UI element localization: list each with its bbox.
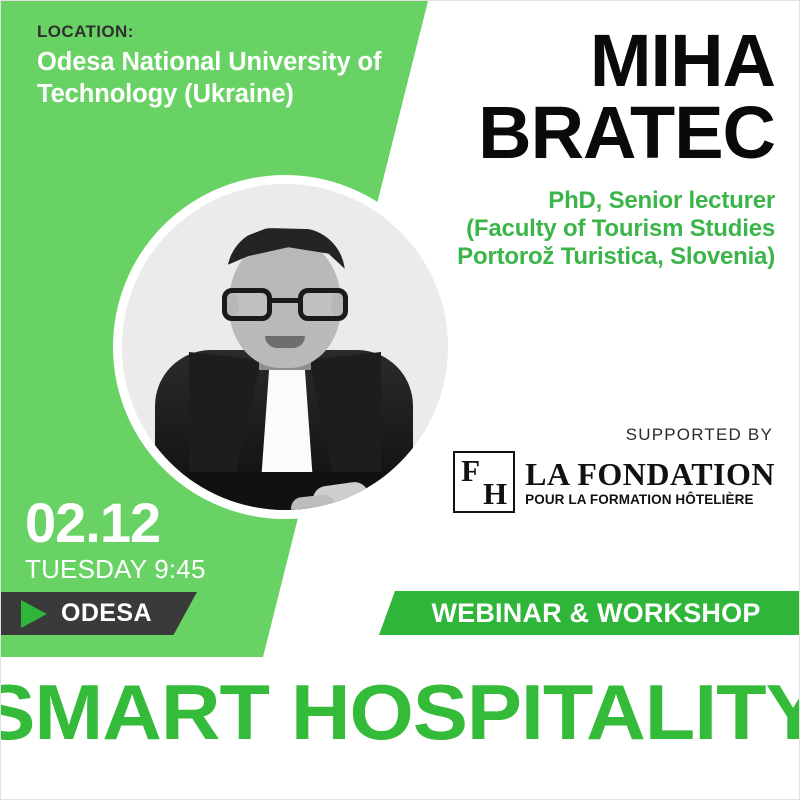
photo-lens-right bbox=[298, 288, 348, 321]
event-format-label: WEBINAR & WORKSHOP bbox=[431, 598, 760, 629]
location-block: LOCATION: Odesa National University of T… bbox=[37, 23, 387, 110]
event-date: 02.12 bbox=[25, 495, 206, 551]
foundation-tagline: POUR LA FORMATION HÔTELIÈRE bbox=[525, 493, 775, 507]
speaker-role-line-3: Portorož Turistica, Slovenia) bbox=[355, 243, 775, 271]
event-format-banner: WEBINAR & WORKSHOP bbox=[375, 591, 800, 635]
photo-lens-left bbox=[222, 288, 272, 321]
foundation-wordmark: LA FONDATION POUR LA FORMATION HÔTELIÈRE bbox=[525, 458, 775, 507]
play-icon bbox=[21, 600, 47, 628]
fh-monogram-icon: F H bbox=[453, 451, 515, 513]
fh-letter-f: F bbox=[461, 455, 480, 486]
city-bar: ODESA bbox=[1, 592, 197, 635]
speaker-credentials: PhD, Senior lecturer (Faculty of Tourism… bbox=[355, 187, 775, 272]
speaker-role-line-2: (Faculty of Tourism Studies bbox=[355, 215, 775, 243]
location-label: LOCATION: bbox=[37, 23, 387, 42]
event-day-time: TUESDAY 9:45 bbox=[25, 555, 206, 584]
photo-glasses-bridge bbox=[272, 298, 298, 303]
foundation-name: LA FONDATION bbox=[525, 458, 775, 490]
city-name: ODESA bbox=[61, 599, 152, 628]
event-poster: LOCATION: Odesa National University of T… bbox=[0, 0, 800, 800]
supported-by-label: SUPPORTED BY bbox=[453, 425, 773, 445]
fh-letter-h: H bbox=[483, 478, 507, 509]
speaker-role-line-1: PhD, Senior lecturer bbox=[355, 187, 775, 215]
foundation-logo: F H LA FONDATION POUR LA FORMATION HÔTEL… bbox=[453, 451, 775, 513]
page-title: SMART HOSPITALITY bbox=[0, 673, 800, 751]
speaker-first-name: MIHA bbox=[355, 25, 775, 97]
speaker-last-name: BRATEC bbox=[355, 97, 775, 169]
supporter-block: SUPPORTED BY F H LA FONDATION POUR LA FO… bbox=[453, 425, 775, 513]
photo-smile bbox=[265, 336, 305, 348]
speaker-block: MIHA BRATEC PhD, Senior lecturer (Facult… bbox=[355, 25, 775, 271]
location-value: Odesa National University of Technology … bbox=[37, 47, 387, 111]
photo-glasses bbox=[222, 288, 348, 322]
event-date-block: 02.12 TUESDAY 9:45 bbox=[25, 495, 206, 584]
